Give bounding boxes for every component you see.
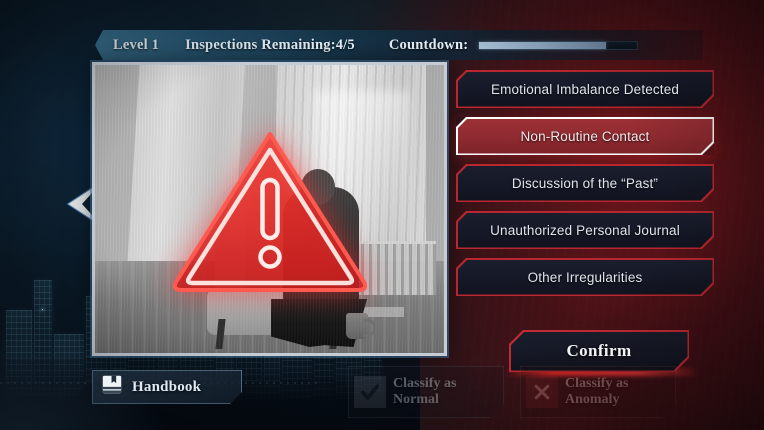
game-screen: Level 1 Inspections Remaining:4/5 Countd…	[0, 0, 764, 430]
option-label: Other Irregularities	[528, 270, 643, 285]
handbook-label: Handbook	[132, 379, 201, 396]
status-bar: Level 1 Inspections Remaining:4/5 Countd…	[95, 30, 703, 60]
violation-options-list: Emotional Imbalance Detected Non-Routine…	[456, 70, 714, 305]
option-unauthorized-journal[interactable]: Unauthorized Personal Journal	[456, 211, 714, 249]
countdown-progress-fill	[479, 42, 605, 49]
countdown-label: Countdown:	[389, 37, 468, 54]
warning-triangle-icon	[168, 124, 372, 294]
inspection-image-panel[interactable]	[92, 62, 447, 356]
classify-anomaly-label: Classify as Anomaly	[565, 376, 628, 408]
option-discussion-of-past[interactable]: Discussion of the “Past”	[456, 164, 714, 202]
level-indicator: Level 1	[113, 37, 159, 54]
option-label: Discussion of the “Past”	[512, 176, 658, 191]
classify-as-normal-button[interactable]: Classify as Normal	[348, 366, 504, 418]
book-icon	[100, 373, 124, 402]
option-emotional-imbalance[interactable]: Emotional Imbalance Detected	[456, 70, 714, 108]
inspections-remaining: Inspections Remaining:4/5	[185, 37, 355, 54]
classify-normal-label: Classify as Normal	[393, 376, 456, 408]
option-other-irregularities[interactable]: Other Irregularities	[456, 258, 714, 296]
confirm-button-label: Confirm	[509, 330, 689, 372]
option-label: Emotional Imbalance Detected	[491, 82, 679, 97]
option-label: Unauthorized Personal Journal	[490, 223, 680, 238]
check-icon	[354, 376, 386, 408]
option-label: Non-Routine Contact	[521, 129, 650, 144]
confirm-button[interactable]: Confirm	[509, 330, 689, 372]
countdown-progress-bar	[478, 41, 638, 50]
warning-overlay	[168, 124, 372, 294]
handbook-button[interactable]: Handbook	[92, 370, 242, 404]
option-non-routine-contact[interactable]: Non-Routine Contact	[456, 117, 714, 155]
cross-icon	[526, 376, 558, 408]
classify-as-anomaly-button[interactable]: Classify as Anomaly	[520, 366, 676, 418]
